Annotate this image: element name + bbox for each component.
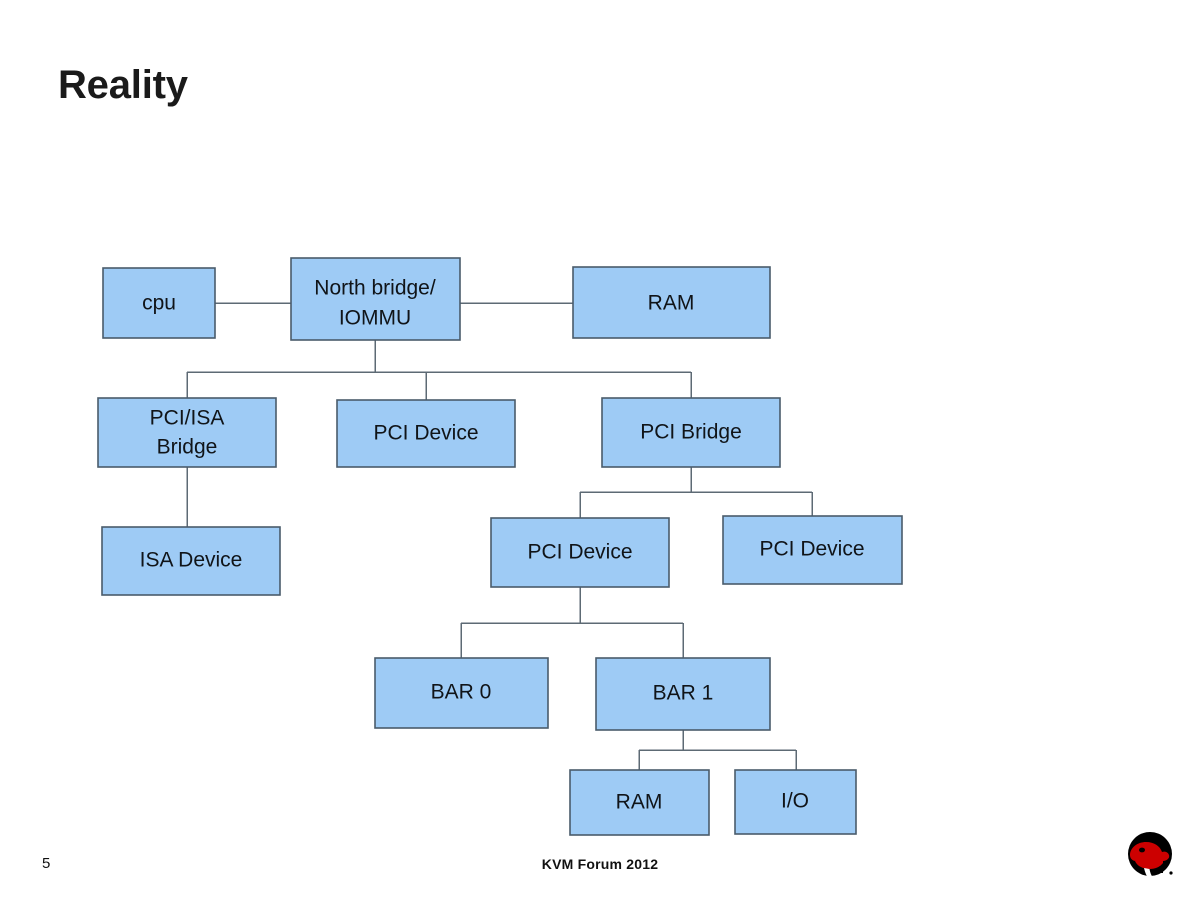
node-layer: cpu North bridge/ IOMMU RAM PCI/ISA Brid… (98, 258, 902, 835)
node-pci-isa-bridge[interactable]: PCI/ISA Bridge (98, 398, 276, 467)
slide-canvas: Reality (0, 0, 1200, 900)
node-isa-device-label: ISA Device (140, 549, 243, 572)
node-bar0-label: BAR 0 (431, 681, 492, 704)
node-isa-device[interactable]: ISA Device (102, 527, 280, 595)
node-north-bridge-label-line1: North bridge/ (314, 277, 436, 300)
node-bar0[interactable]: BAR 0 (375, 658, 548, 728)
node-ram-top-label: RAM (648, 292, 695, 315)
node-cpu[interactable]: cpu (103, 268, 215, 338)
node-io[interactable]: I/O (735, 770, 856, 834)
node-pci-device-a-label: PCI Device (373, 422, 478, 445)
node-pci-device-a[interactable]: PCI Device (337, 400, 515, 467)
node-ram-bottom[interactable]: RAM (570, 770, 709, 835)
node-pci-device-c-label: PCI Device (759, 538, 864, 561)
red-hat-shadowman-logo-icon (1122, 828, 1184, 886)
node-pci-device-c[interactable]: PCI Device (723, 516, 902, 584)
node-ram-bottom-label: RAM (616, 791, 663, 814)
node-cpu-label: cpu (142, 292, 176, 315)
node-pci-bridge[interactable]: PCI Bridge (602, 398, 780, 467)
footer-event-name: KVM Forum 2012 (0, 856, 1200, 872)
node-bar1[interactable]: BAR 1 (596, 658, 770, 730)
node-north-bridge-label-line2: IOMMU (339, 307, 411, 330)
node-ram-top[interactable]: RAM (573, 267, 770, 338)
node-io-label: I/O (781, 790, 809, 813)
node-pci-isa-bridge-label-line2: Bridge (157, 436, 218, 459)
node-bar1-label: BAR 1 (653, 682, 714, 705)
node-pci-device-b[interactable]: PCI Device (491, 518, 669, 587)
node-pci-bridge-label: PCI Bridge (640, 421, 742, 444)
architecture-diagram: cpu North bridge/ IOMMU RAM PCI/ISA Brid… (0, 0, 1200, 900)
node-pci-isa-bridge-label-line1: PCI/ISA (150, 407, 225, 430)
node-north-bridge-iommu[interactable]: North bridge/ IOMMU (291, 258, 460, 340)
node-pci-device-b-label: PCI Device (527, 541, 632, 564)
